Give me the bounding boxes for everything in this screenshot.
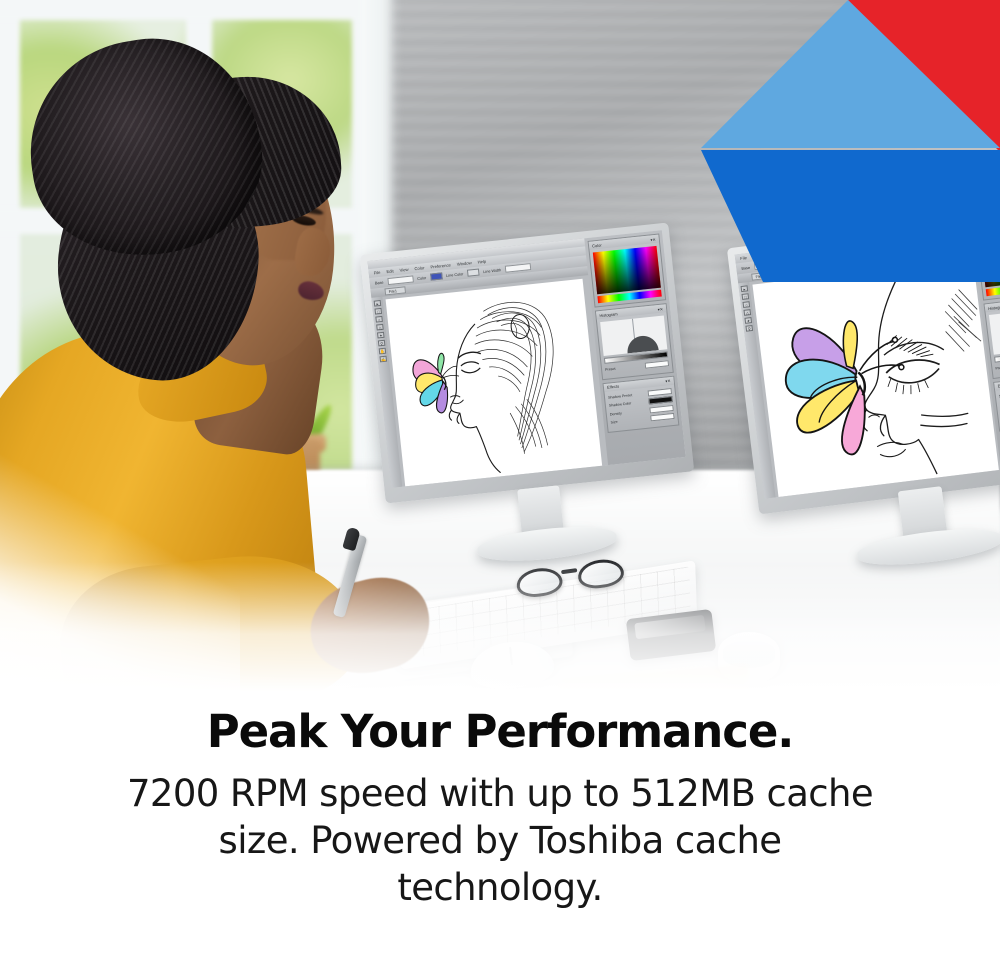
shadow-color-label: Shadow Color (609, 401, 632, 407)
color-swatch[interactable] (430, 272, 443, 280)
menu-item-window[interactable]: Window (457, 260, 472, 267)
menu-item-window[interactable]: Window (823, 244, 838, 251)
menu-item-view[interactable]: View (766, 252, 776, 258)
hand-tool-icon[interactable]: ✋ (379, 348, 387, 355)
size-label: Size (610, 420, 617, 425)
document-tab[interactable]: File1 (751, 271, 773, 281)
panel-title: Histogram (988, 303, 1000, 310)
panel-title: Color (592, 242, 602, 248)
magic-wand-tool-icon[interactable]: ✦ (744, 317, 752, 324)
base-label: Base (741, 265, 750, 270)
panel-title: Effects (607, 384, 620, 390)
histogram-panel: Histogram ▾✕ Preset (595, 303, 674, 380)
preset-select[interactable] (645, 360, 669, 368)
panel-body (590, 243, 666, 307)
subtext: 7200 RPM speed with up to 512MB cache si… (0, 770, 1000, 912)
hero-photo: File Edit View Color Preference Window H… (0, 0, 1000, 712)
line-color-label: Line Color (446, 272, 464, 278)
color-field[interactable] (980, 233, 1000, 287)
panel-collapse-icon[interactable]: ▾✕ (650, 236, 656, 242)
density-label: Density (610, 411, 622, 416)
canvas-left[interactable] (386, 279, 603, 487)
caption-block: Peak Your Performance. 7200 RPM speed wi… (0, 708, 1000, 912)
lasso-tool-icon[interactable]: ○ (375, 316, 383, 323)
preset-label: Preset (995, 365, 1000, 370)
preset-label: Preset (605, 367, 616, 372)
size-input[interactable] (650, 413, 674, 421)
menu-item-help[interactable]: Help (843, 242, 852, 248)
shadow-preset-select[interactable] (647, 388, 671, 396)
shadow-color-swatch[interactable] (648, 396, 672, 404)
lasso-tool-icon[interactable]: ○ (742, 301, 750, 308)
artwork-face-butterfly-zoom (752, 258, 998, 497)
line-width-label: Line Width (483, 268, 501, 274)
effects-panel: Effects ▾✕ Shadow Preset Shadow Color (993, 374, 1000, 431)
histogram-graph (989, 308, 1000, 354)
shape-tool-icon[interactable]: △ (743, 309, 751, 316)
line-width-input[interactable] (505, 263, 532, 273)
menu-item-file[interactable]: File (373, 270, 380, 276)
graphics-app-left: File Edit View Color Preference Window H… (367, 230, 685, 488)
marquee-tool-icon[interactable]: □ (742, 293, 750, 300)
panel-body: Preset (597, 312, 673, 378)
color-picker-panel: Color ▾✕ (588, 233, 667, 307)
menu-item-edit[interactable]: Edit (386, 268, 394, 274)
shape-tool-icon[interactable]: △ (376, 324, 384, 331)
panel-collapse-icon[interactable]: ▾✕ (657, 306, 663, 312)
monitor-right: File Edit View Color Preference Window H… (727, 209, 1000, 514)
pointer-tool-icon[interactable]: ▸ (741, 285, 749, 292)
menu-item-preference[interactable]: Preference (430, 262, 451, 269)
histogram-midline (632, 319, 636, 353)
document-tab[interactable]: File1 (384, 286, 406, 295)
pointer-tool-icon[interactable]: ▸ (374, 300, 382, 307)
density-input[interactable] (649, 404, 673, 412)
monitor-left-screen[interactable]: File Edit View Color Preference Window H… (367, 230, 685, 488)
menu-item-file[interactable]: File (740, 255, 747, 261)
line-color-swatch[interactable] (833, 252, 846, 260)
effects-panel: Effects ▾✕ Shadow Preset Shadow Color (602, 375, 679, 432)
canvas-right[interactable] (752, 258, 998, 497)
panel-body: Shadow Preset Shadow Color Density (995, 383, 1000, 430)
ad-banner: File Edit View Color Preference Window H… (0, 0, 1000, 969)
menu-item-help[interactable]: Help (477, 259, 486, 265)
headline: Peak Your Performance. (0, 708, 1000, 756)
histogram-graph (600, 315, 667, 356)
color-field[interactable] (593, 246, 661, 294)
brush-tool-icon[interactable]: ✍ (380, 356, 388, 363)
menu-item-edit[interactable]: Edit (753, 254, 761, 260)
marquee-tool-icon[interactable]: □ (374, 308, 382, 315)
line-color-swatch[interactable] (467, 269, 480, 277)
color-swatch[interactable] (796, 257, 809, 265)
menu-item-color[interactable]: Color (781, 250, 792, 256)
panel-body: Preset (986, 305, 1000, 377)
line-width-label: Line Width (849, 251, 867, 257)
panel-collapse-icon[interactable]: ▾✕ (665, 378, 671, 384)
base-label: Base (375, 280, 384, 285)
base-select[interactable] (387, 275, 414, 285)
shadow-preset-label: Shadow Preset (608, 393, 633, 400)
photo-fade-bottom (0, 562, 1000, 712)
panel-body: Shadow Preset Shadow Color Density (604, 384, 678, 431)
panel-body (976, 230, 1000, 300)
color-picker-panel: Color ▾✕ (974, 221, 1000, 301)
color-label: Color (783, 260, 792, 265)
monitor-right-screen[interactable]: File Edit View Color Preference Window H… (735, 217, 1000, 498)
zoom-tool-icon[interactable]: ⚲ (745, 325, 753, 332)
artwork-woman-ponytail-butterfly (386, 279, 603, 487)
menu-item-view[interactable]: View (399, 267, 408, 273)
graphics-app-right: File Edit View Color Preference Window H… (735, 217, 1000, 498)
panel-title: Color (979, 229, 989, 235)
menu-item-color[interactable]: Color (414, 265, 424, 271)
color-label: Color (417, 276, 426, 281)
monitor-left: File Edit View Color Preference Window H… (360, 222, 694, 503)
zoom-tool-icon[interactable]: ⚲ (378, 340, 386, 347)
magic-wand-tool-icon[interactable]: ✦ (377, 332, 385, 339)
line-color-label: Line Color (812, 256, 830, 262)
